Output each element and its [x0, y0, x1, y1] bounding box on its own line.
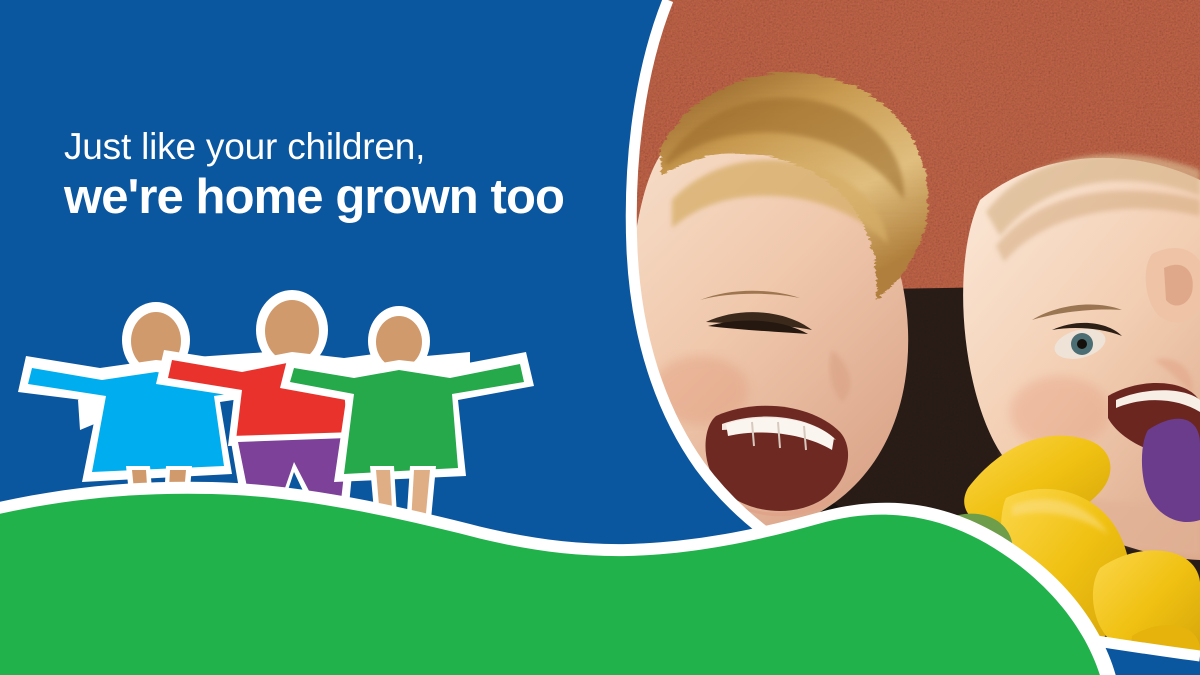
promotional-banner: Just like your children, we're home grow… [0, 0, 1200, 675]
banner-artwork [0, 0, 1200, 675]
